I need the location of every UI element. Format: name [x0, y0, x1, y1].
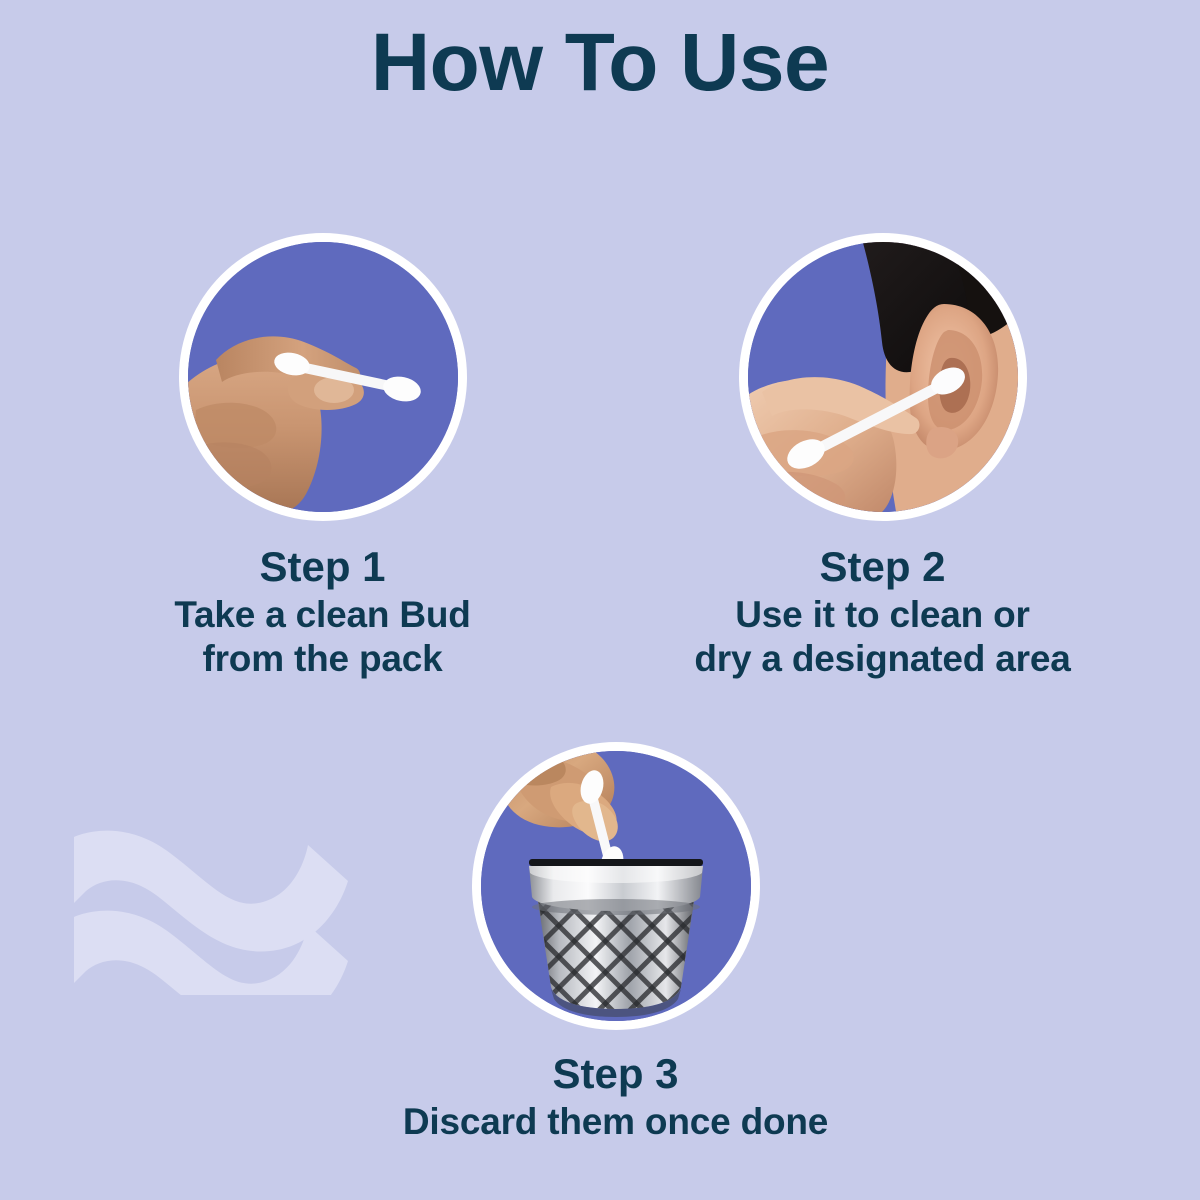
step-2-label: Step 2: [610, 545, 1155, 589]
step-2-description: Use it to clean or dry a designated area: [610, 593, 1155, 680]
step-1-label: Step 1: [50, 545, 595, 589]
step-3-photo: [481, 751, 751, 1021]
hand-cleaning-ear-with-cotton-bud-icon: [748, 242, 1018, 512]
step-2-description-line-2: dry a designated area: [610, 637, 1155, 681]
hand-holding-cotton-bud-icon: [188, 242, 458, 512]
how-to-use-infographic: How To Use: [0, 0, 1200, 1200]
step-1-block: Step 1 Take a clean Bud from the pack: [50, 233, 595, 680]
step-1-photo: [188, 242, 458, 512]
step-1-description-line-2: from the pack: [50, 637, 595, 681]
step-3-label: Step 3: [343, 1052, 888, 1096]
step-1-image-circle: [179, 233, 467, 521]
hand-dropping-cotton-bud-in-wastebasket-icon: [481, 751, 751, 1021]
step-2-description-line-1: Use it to clean or: [610, 593, 1155, 637]
step-3-image-circle: [472, 742, 760, 1030]
step-3-description-line-1: Discard them once done: [343, 1100, 888, 1144]
step-2-block: Step 2 Use it to clean or dry a designat…: [610, 233, 1155, 680]
step-1-description-line-1: Take a clean Bud: [50, 593, 595, 637]
step-3-description: Discard them once done: [343, 1100, 888, 1144]
step-1-description: Take a clean Bud from the pack: [50, 593, 595, 680]
step-3-block: Step 3 Discard them once done: [343, 742, 888, 1144]
page-title: How To Use: [0, 22, 1200, 104]
step-2-photo: [748, 242, 1018, 512]
step-2-image-circle: [739, 233, 1027, 521]
